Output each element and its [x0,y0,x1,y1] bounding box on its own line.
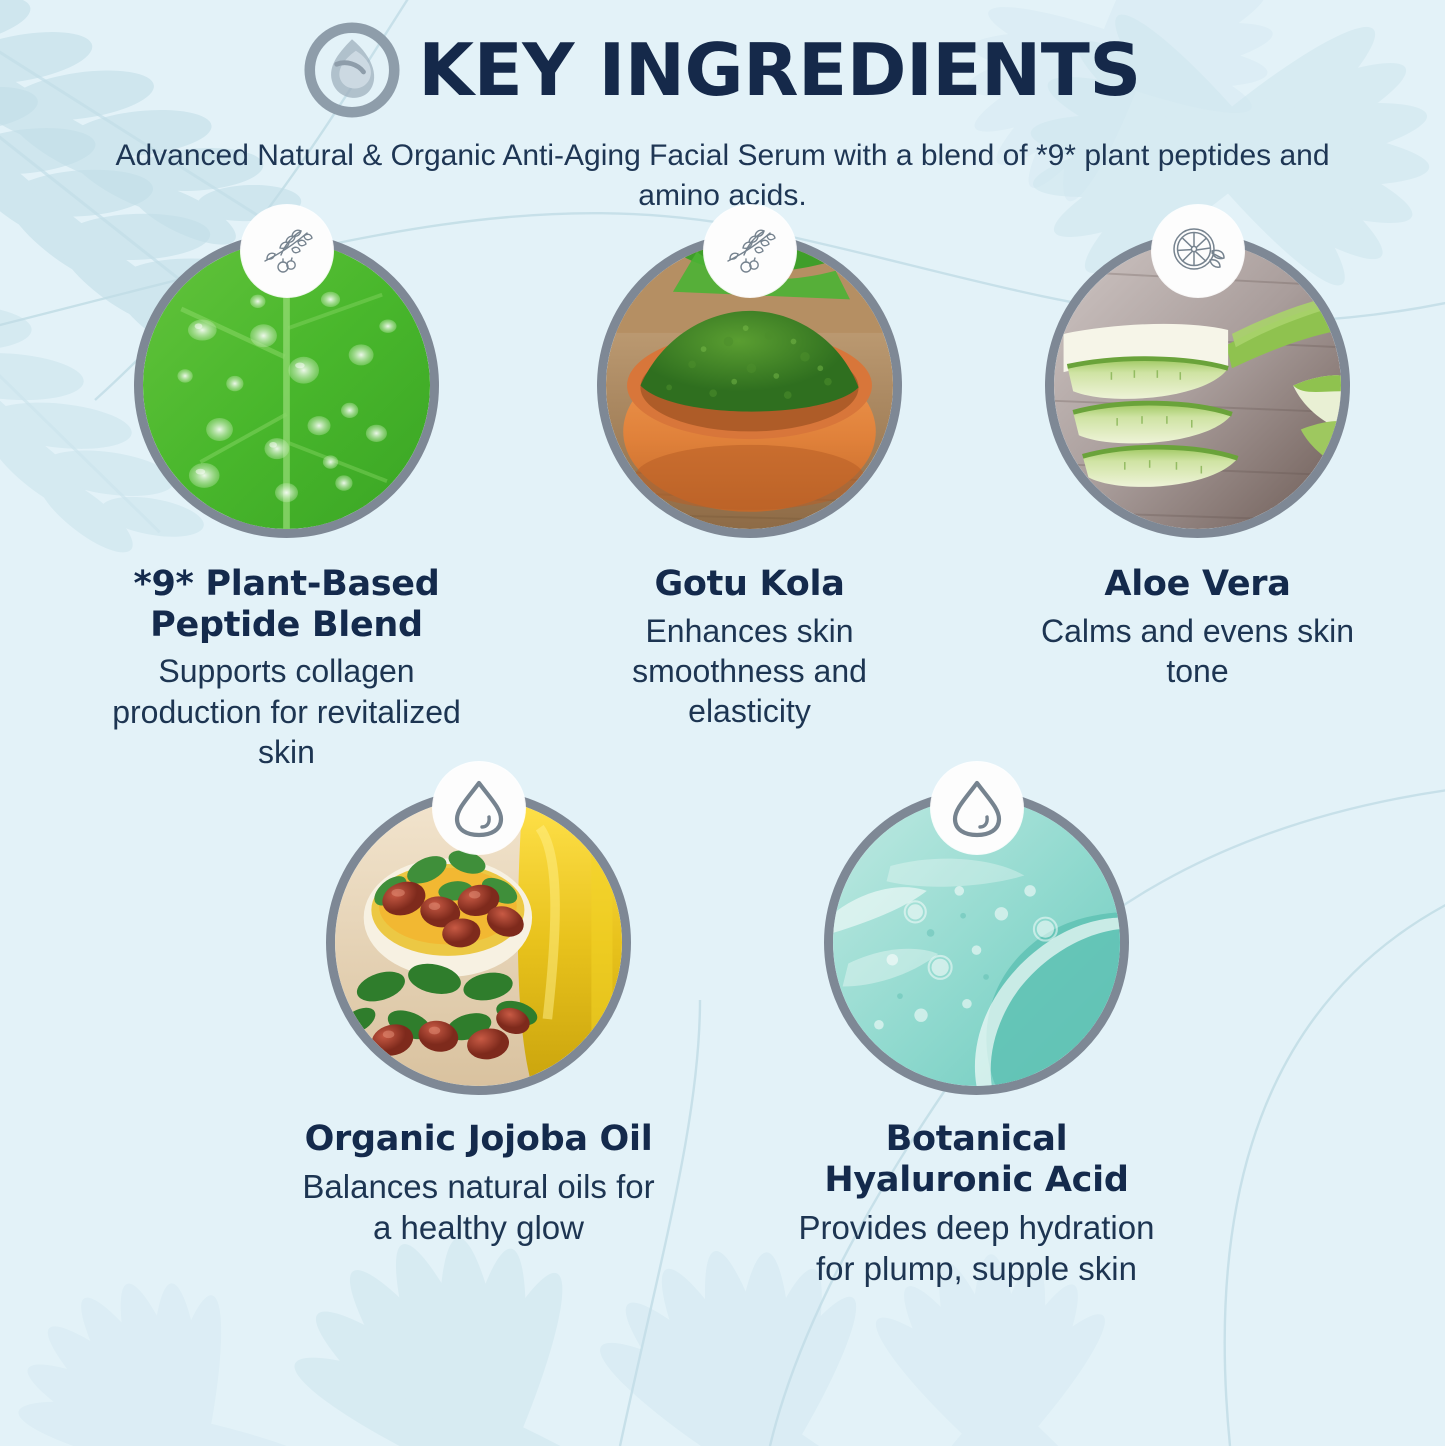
page-title: KEY INGREDIENTS [418,34,1140,106]
page-subtitle: Advanced Natural & Organic Anti-Aging Fa… [73,136,1373,215]
ingredient-media [134,233,439,538]
water-droplet-icon [931,762,1023,854]
citrus-slice-icon [1152,205,1244,297]
ingredient-card-jojoba-oil: Organic Jojoba Oil Balances natural oils… [299,790,659,1289]
ingredient-card-gotu-kola: Gotu Kola Enhances skin smoothness and e… [585,233,915,772]
ingredient-description: Enhances skin smoothness and elasticity [585,611,915,732]
ingredient-media [597,233,902,538]
ingredient-description: Provides deep hydration for plump, suppl… [797,1207,1157,1290]
droplet-leaf-logo-icon [304,22,400,118]
title-row: KEY INGREDIENTS [0,22,1445,118]
herb-sprig-icon [704,205,796,297]
ingredient-media [326,790,631,1095]
ingredient-title: Botanical Hyaluronic Acid [797,1119,1157,1200]
ingredient-description: Calms and evens skin tone [1033,611,1363,692]
water-droplet-icon [433,762,525,854]
ingredient-row-1: *9* Plant-Based Peptide Blend Supports c… [0,233,1445,772]
ingredient-media [824,790,1129,1095]
ingredient-description: Balances natural oils for a healthy glow [299,1166,659,1249]
ingredient-card-hyaluronic-acid: Botanical Hyaluronic Acid Provides deep … [797,790,1157,1289]
ingredient-title: *9* Plant-Based Peptide Blend [107,564,467,645]
ingredient-media [1045,233,1350,538]
ingredient-title: Gotu Kola [654,564,844,605]
ingredient-grid: *9* Plant-Based Peptide Blend Supports c… [0,233,1445,1289]
ingredient-card-aloe-vera: Aloe Vera Calms and evens skin tone [1033,233,1363,772]
header: KEY INGREDIENTS Advanced Natural & Organ… [0,0,1445,215]
herb-sprig-icon [241,205,333,297]
ingredient-title: Organic Jojoba Oil [305,1119,653,1160]
ingredient-title: Aloe Vera [1104,564,1290,605]
ingredient-description: Supports collagen production for revital… [107,651,467,772]
ingredient-row-2: Organic Jojoba Oil Balances natural oils… [0,790,1445,1289]
ingredient-card-peptide-blend: *9* Plant-Based Peptide Blend Supports c… [107,233,467,772]
